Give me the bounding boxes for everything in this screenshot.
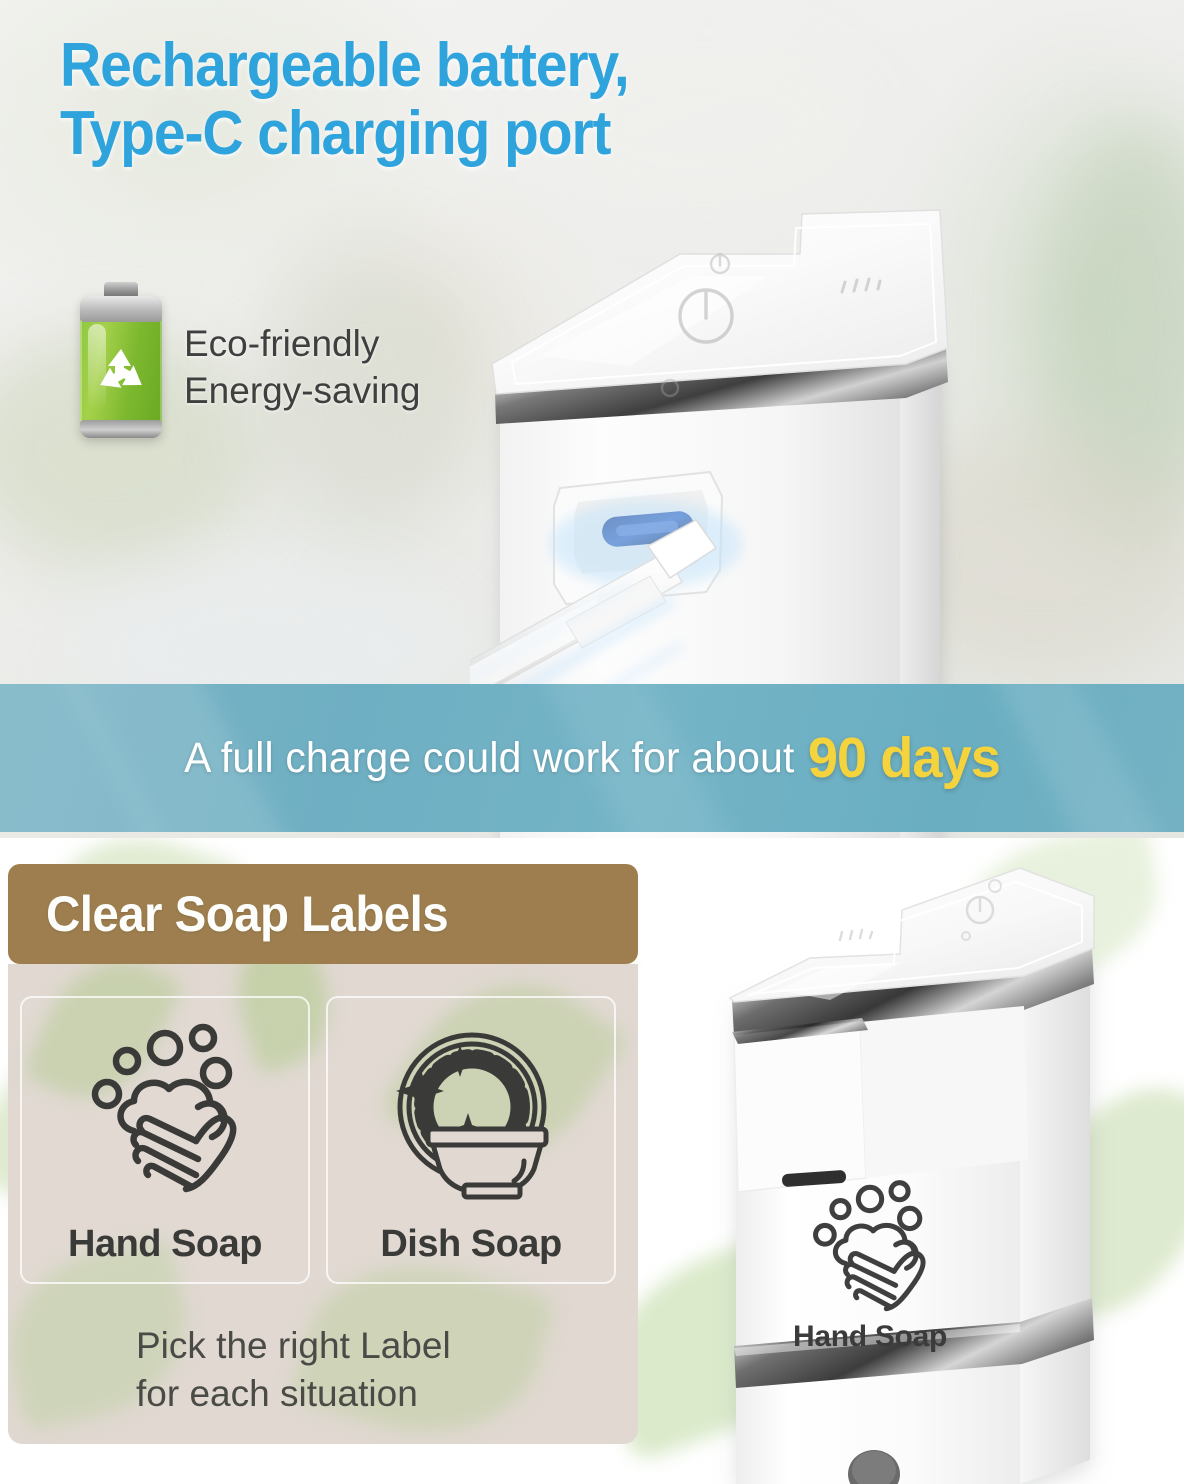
headline-line-1: Rechargeable battery,: [60, 31, 629, 100]
banner-text: A full charge could work for about 90 da…: [30, 684, 1155, 832]
soap-labels-panel: Hand Soap: [8, 964, 638, 1444]
hand-soap-label: Hand Soap: [68, 1223, 262, 1266]
bottom-section: Clear Soap Labels: [0, 838, 1184, 1484]
dish-soap-card[interactable]: Dish Soap: [326, 996, 616, 1284]
recycle-symbol-icon: [93, 346, 149, 400]
headline-line-2: Type-C charging port: [60, 100, 888, 168]
recycling-battery-icon: [80, 296, 162, 438]
soap-label-cards: Hand Soap: [20, 996, 616, 1284]
banner-text-main: A full charge could work for about: [184, 734, 794, 783]
pick-label-caption: Pick the right Label for each situation: [136, 1322, 606, 1418]
pick-label-caption-line-1: Pick the right Label: [136, 1322, 606, 1370]
dish-soap-label: Dish Soap: [380, 1223, 561, 1266]
hand-soap-card[interactable]: Hand Soap: [20, 996, 310, 1284]
eco-feature-line-1: Eco-friendly: [184, 320, 421, 367]
dish-plate-bowl-sparkle-icon: [328, 998, 614, 1223]
eco-feature-text: Eco-friendly Energy-saving: [184, 320, 421, 415]
clear-soap-labels-header: Clear Soap Labels: [8, 864, 638, 964]
eco-feature: Eco-friendly Energy-saving: [80, 296, 421, 438]
soap-dispenser-product-bottom: Hand Soap: [690, 848, 1120, 1484]
banner-highlight: 90 days: [808, 725, 1000, 791]
pick-label-caption-line-2: for each situation: [136, 1370, 606, 1418]
battery-life-banner: A full charge could work for about 90 da…: [0, 684, 1184, 832]
eco-feature-line-2: Energy-saving: [184, 367, 421, 414]
hand-washing-bubbles-icon: [22, 998, 308, 1223]
hand-soap-sticker: Hand Soap: [750, 1178, 990, 1354]
hand-washing-bubbles-icon: [795, 1178, 945, 1318]
hand-soap-sticker-label: Hand Soap: [793, 1320, 947, 1354]
headline: Rechargeable battery, Type-C charging po…: [60, 32, 888, 167]
clear-soap-labels-title: Clear Soap Labels: [46, 885, 448, 943]
level-bars-icon: [840, 930, 872, 940]
dispenser-illustration-bottom: [690, 848, 1120, 1484]
product-feature-image: Rechargeable battery, Type-C charging po…: [0, 0, 1184, 1484]
